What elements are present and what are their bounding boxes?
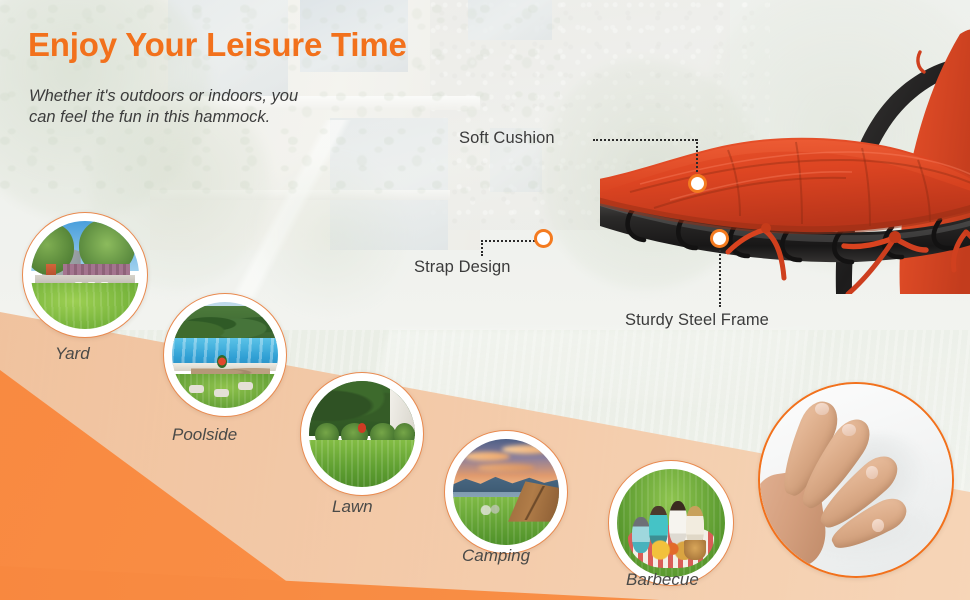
scenario-photo-lawn — [309, 381, 415, 487]
lawn-grass — [309, 440, 415, 487]
foam-scene — [760, 384, 952, 576]
poolside-stepstone-3 — [238, 382, 253, 390]
foam-cushion-detail-photo — [760, 384, 952, 576]
callout-dot-strap-design — [537, 232, 550, 245]
hammock-strap-loop-small — [918, 52, 924, 72]
lawn-red-flower — [358, 423, 366, 433]
scenario-photo-camping — [453, 439, 559, 545]
callout-soft-cushion: Soft Cushion — [459, 129, 555, 148]
scenario-thumbnail-poolside — [163, 293, 287, 417]
camping-tent-seam — [519, 486, 551, 520]
hammock-product-image — [600, 0, 970, 294]
camping-scene — [453, 439, 559, 545]
yard-grass — [31, 283, 139, 329]
scenario-label-barbecue: Barbecue — [626, 570, 699, 590]
leader-line-sturdy-steel-frame-vertical — [719, 239, 721, 307]
barbecue-basket — [684, 540, 706, 559]
callout-dot-sturdy-steel-frame — [713, 232, 726, 245]
hand-nail-2 — [842, 424, 855, 436]
scenario-thumbnail-lawn — [300, 372, 424, 496]
scenario-photo-poolside — [172, 302, 278, 408]
barbecue-person-3 — [669, 501, 687, 544]
hand-nail-3 — [866, 466, 878, 478]
poolside-hedge — [172, 306, 278, 342]
scenario-thumbnail-camping — [444, 430, 568, 554]
hand-nail-4 — [872, 519, 884, 531]
lawn-scene — [309, 381, 415, 487]
callout-strap-design: Strap Design — [414, 258, 511, 277]
subtitle-line-1: Whether it's outdoors or indoors, you — [29, 86, 409, 107]
leader-line-strap-design-horizontal — [481, 240, 543, 242]
barbecue-person-1 — [632, 517, 650, 554]
scenario-photo-yard — [31, 221, 139, 329]
scenario-thumbnail-barbecue — [608, 460, 734, 586]
leader-line-soft-cushion-horizontal — [593, 139, 697, 141]
hand-nail-1 — [815, 403, 828, 415]
poolside-scene — [172, 302, 278, 408]
yard-fence — [63, 264, 130, 275]
product-infographic: Enjoy Your Leisure Time Whether it's out… — [0, 0, 970, 600]
scenario-photo-barbecue — [617, 469, 725, 577]
leader-line-strap-design-vertical — [481, 240, 483, 256]
scenario-label-yard: Yard — [55, 344, 90, 364]
foam-cushion-detail-thumbnail — [758, 382, 954, 578]
camping-cloud-2 — [502, 445, 551, 453]
page-subtitle: Whether it's outdoors or indoors, you ca… — [29, 86, 409, 128]
poolside-flower — [217, 355, 228, 368]
barbecue-scene — [617, 469, 725, 577]
scenario-thumbnail-yard — [22, 212, 148, 338]
callout-sturdy-steel-frame: Sturdy Steel Frame — [625, 311, 769, 330]
camping-cloud-3 — [478, 464, 533, 471]
camping-gear — [478, 503, 503, 516]
yard-scene — [31, 221, 139, 329]
page-title: Enjoy Your Leisure Time — [28, 26, 407, 64]
poolside-stepstone-1 — [189, 385, 204, 393]
scenario-label-lawn: Lawn — [332, 497, 373, 517]
hand-pressing-foam — [760, 396, 902, 573]
callout-dot-soft-cushion — [691, 177, 704, 190]
scenario-label-camping: Camping — [462, 546, 530, 566]
subtitle-line-2: can feel the fun in this hammock. — [29, 107, 409, 128]
poolside-stepstone-2 — [214, 389, 229, 397]
scenario-label-poolside: Poolside — [172, 425, 237, 445]
